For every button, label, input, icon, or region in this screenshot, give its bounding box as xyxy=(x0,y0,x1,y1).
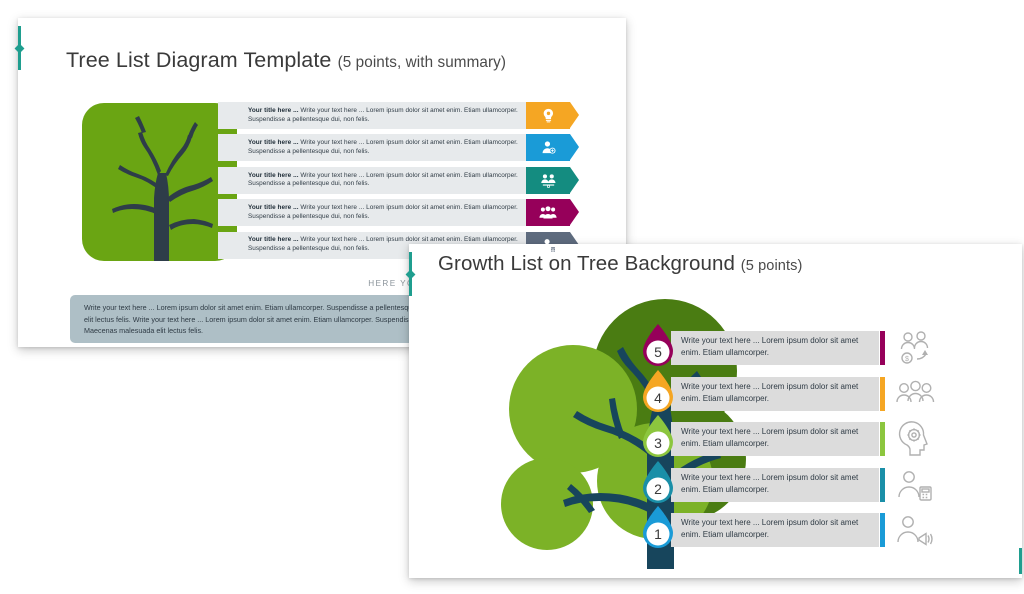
growth-item-number: 2 xyxy=(637,470,679,508)
people-money-growth-icon: $ xyxy=(895,329,935,369)
bare-tree-silhouette-icon xyxy=(82,103,237,261)
growth-item-tick xyxy=(880,377,885,411)
list-item-badge[interactable] xyxy=(526,134,570,161)
growth-item-text: Write your text here ... Lorem ipsum dol… xyxy=(681,472,871,496)
growth-list-item[interactable]: Write your text here ... Lorem ipsum dol… xyxy=(637,327,927,373)
growth-item-number: 4 xyxy=(637,379,679,417)
list-item-title: Your title here ... xyxy=(248,107,299,114)
growth-item-text: Write your text here ... Lorem ipsum dol… xyxy=(681,335,871,359)
growth-item-text: Write your text here ... Lorem ipsum dol… xyxy=(681,517,871,541)
list-item-textbar: Your title here ... Write your text here… xyxy=(218,134,526,161)
head-idea-icon xyxy=(540,107,557,124)
badge-arrow-tip xyxy=(570,167,579,193)
badge-arrow-tip xyxy=(570,134,579,160)
list-item-text: Your title here ... Write your text here… xyxy=(248,204,518,221)
list-item-title: Your title here ... xyxy=(248,172,299,179)
person-megaphone-icon xyxy=(895,511,935,551)
list-item[interactable]: Your title here ... Write your text here… xyxy=(218,167,563,194)
list-item-text: Your title here ... Write your text here… xyxy=(248,107,518,124)
list-item-badge[interactable] xyxy=(526,167,570,194)
group-people-icon xyxy=(539,204,557,222)
page-title: Tree List Diagram Template (5 points, wi… xyxy=(66,48,506,73)
growth-item-tick xyxy=(880,422,885,456)
list-item-badge[interactable] xyxy=(526,102,570,129)
list-item-title: Your title here ... xyxy=(248,236,299,243)
list-item-badge[interactable] xyxy=(526,199,570,226)
page-title-sub: (5 points) xyxy=(741,258,803,274)
growth-item-tick xyxy=(880,513,885,547)
growth-item-tick xyxy=(880,468,885,502)
list-item-title: Your title here ... xyxy=(248,204,299,211)
list-item-title: Your title here ... xyxy=(248,139,299,146)
badge-arrow-tip xyxy=(570,199,579,225)
list-item-textbar: Your title here ... Write your text here… xyxy=(218,199,526,226)
growth-item-number: 5 xyxy=(637,333,679,371)
growth-item-tick xyxy=(880,331,885,365)
list-item-text: Your title here ... Write your text here… xyxy=(248,139,518,156)
person-calculator-icon xyxy=(540,237,557,254)
growth-item-text: Write your text here ... Lorem ipsum dol… xyxy=(681,381,871,405)
list-item[interactable]: Your title here ... Write your text here… xyxy=(218,102,563,129)
growth-list-item[interactable]: Write your text here ... Lorem ipsum dol… xyxy=(637,373,927,419)
growth-item-number: 3 xyxy=(637,424,679,462)
person-calculator-outline-icon xyxy=(895,466,935,506)
page-title-sub: (5 points, with summary) xyxy=(338,54,507,71)
group-three-people-icon xyxy=(895,375,935,415)
list-item-textbar: Your title here ... Write your text here… xyxy=(218,167,526,194)
head-gear-icon xyxy=(895,420,935,460)
list-item-textbar: Your title here ... Write your text here… xyxy=(218,102,526,129)
svg-text:$: $ xyxy=(905,356,909,363)
growth-list-item[interactable]: Write your text here ... Lorem ipsum dol… xyxy=(637,509,927,555)
page-title-main: Tree List Diagram Template xyxy=(66,48,331,72)
badge-arrow-tip xyxy=(570,102,579,128)
growth-item-number: 1 xyxy=(637,515,679,553)
growth-list-items: Write your text here ... Lorem ipsum dol… xyxy=(637,327,927,555)
list-item[interactable]: Your title here ... Write your text here… xyxy=(218,199,563,226)
presentation-canvas: Tree List Diagram Template (5 points, wi… xyxy=(0,0,1024,594)
tree-graphic-panel xyxy=(82,103,237,261)
page-title-main: Growth List on Tree Background xyxy=(438,252,735,275)
growth-list-item[interactable]: Write your text here ... Lorem ipsum dol… xyxy=(637,464,927,510)
growth-item-text: Write your text here ... Lorem ipsum dol… xyxy=(681,426,871,450)
list-item[interactable]: Your title here ... Write your text here… xyxy=(218,134,563,161)
list-item-text: Your title here ... Write your text here… xyxy=(248,172,518,189)
people-handshake-icon xyxy=(540,172,557,189)
growth-list-item[interactable]: Write your text here ... Lorem ipsum dol… xyxy=(637,418,927,464)
slide-accent-right xyxy=(1019,548,1022,574)
slide-accent-diamond xyxy=(14,44,24,54)
slide-growth-list-on-tree-background[interactable]: Growth List on Tree Background (5 points… xyxy=(409,244,1022,578)
page-title: Growth List on Tree Background (5 points… xyxy=(438,252,802,276)
person-add-icon xyxy=(540,139,557,156)
list-items: Your title here ... Write your text here… xyxy=(218,102,563,264)
